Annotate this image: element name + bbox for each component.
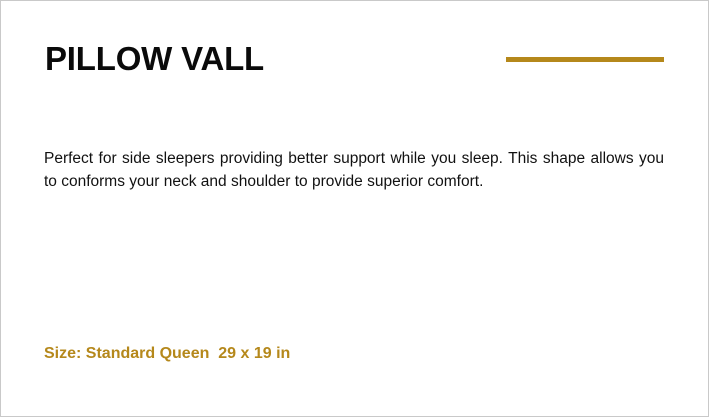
gold-rule-divider	[506, 57, 664, 62]
page-title: PILLOW VALL	[45, 39, 264, 79]
card-header: PILLOW VALL	[1, 1, 709, 111]
product-description: Perfect for side sleepers providing bett…	[44, 147, 664, 193]
size-label: Size: Standard Queen 29 x 19 in	[44, 343, 290, 365]
product-info-card: PILLOW VALL Perfect for side sleepers pr…	[0, 0, 709, 417]
